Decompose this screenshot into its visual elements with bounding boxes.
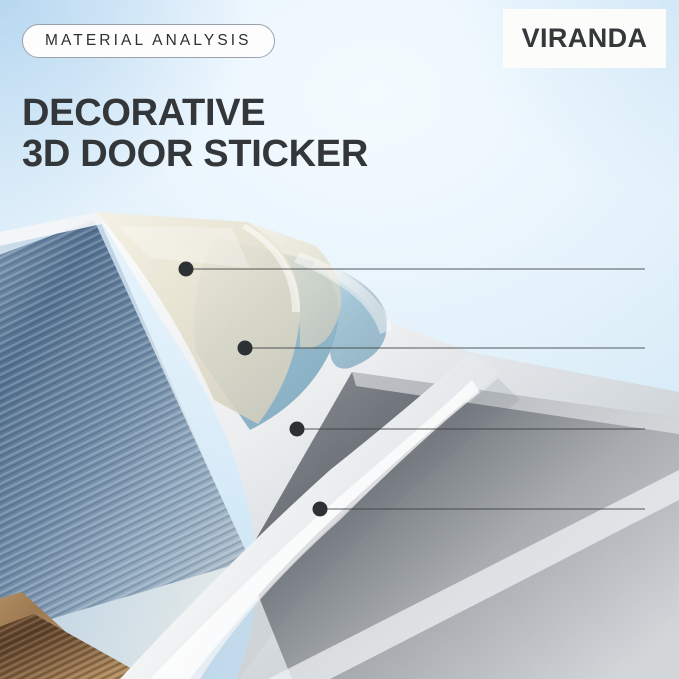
brand-name: VIRANDA [522, 23, 648, 54]
brand-logo: VIRANDA [503, 9, 666, 68]
headline-line-1: DECORATIVE [22, 92, 265, 134]
headline-line-2: 3D DOOR STICKER [22, 134, 368, 175]
page-title: DECORATIVE 3D DOOR STICKER [22, 93, 368, 175]
poster-canvas: MATERIAL ANALYSIS DECORATIVE 3D DOOR STI… [0, 0, 679, 679]
badge-label: MATERIAL ANALYSIS [45, 32, 252, 50]
material-analysis-badge: MATERIAL ANALYSIS [22, 24, 275, 58]
